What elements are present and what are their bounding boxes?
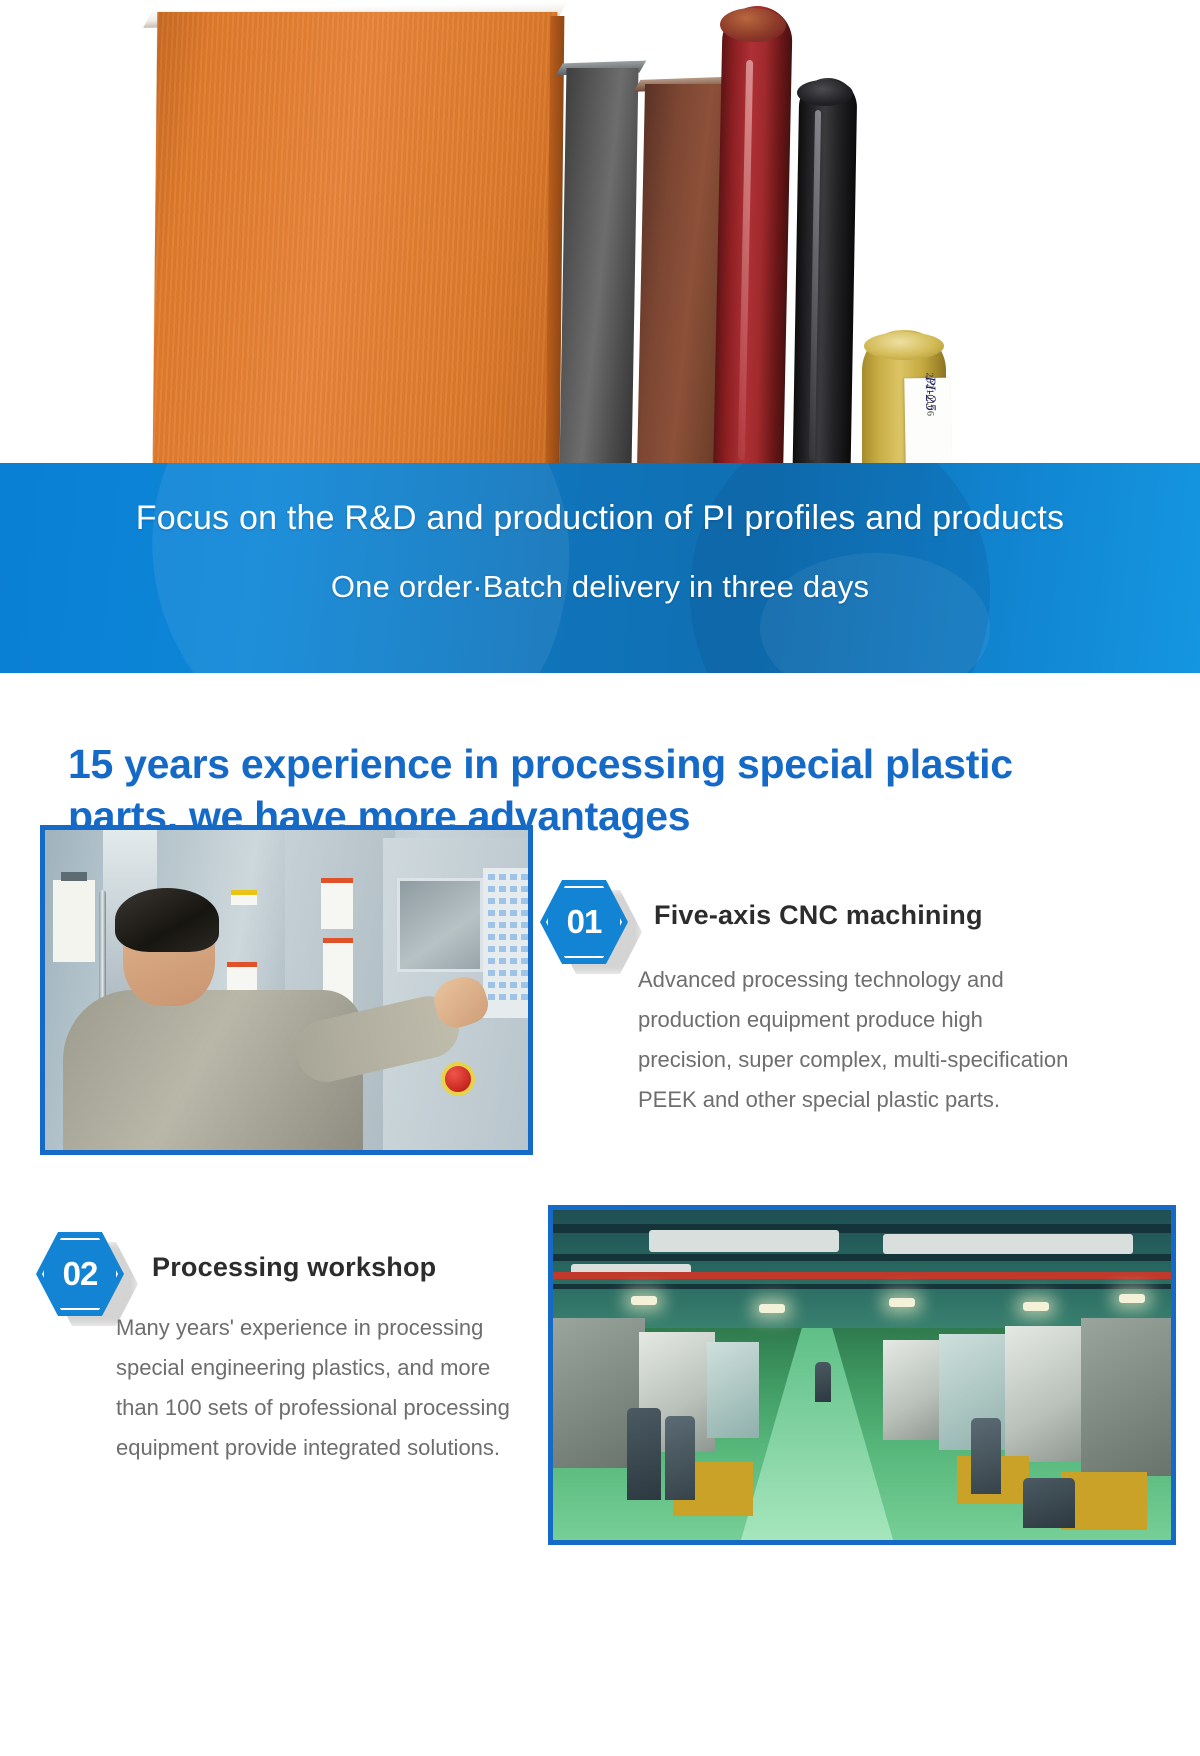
cnc-display-screen <box>397 878 483 972</box>
worker-2 <box>665 1416 695 1500</box>
ceiling-lamp-1 <box>631 1296 657 1305</box>
banner-decor-shape-1 <box>111 463 609 673</box>
banner-headline-secondary: One order·Batch delivery in three days <box>0 569 1200 605</box>
badge-number-01: 01 <box>540 880 628 964</box>
cnc-warning-label-1 <box>321 878 353 929</box>
hero-product-photo: 20210106 PI-25 <box>0 0 1200 470</box>
worker-1 <box>627 1408 661 1500</box>
cnc-machining-photo <box>40 825 533 1155</box>
cnc-clipboard <box>53 880 95 962</box>
worker-5 <box>1023 1478 1075 1528</box>
black-rod <box>793 78 858 470</box>
cnc-keypad <box>483 868 531 1018</box>
feature-title-02: Processing workshop <box>152 1252 532 1283</box>
ceiling-beam-3 <box>553 1284 1171 1289</box>
feature-title-01: Five-axis CNC machining <box>654 900 1074 931</box>
orange-phenolic-sheet <box>153 12 558 470</box>
gold-pi-rod-cap <box>864 332 944 360</box>
workshop-photo <box>548 1205 1176 1545</box>
feature-badge-01: 01 <box>540 880 628 964</box>
emergency-stop-button <box>441 1062 475 1096</box>
worker-4 <box>971 1418 1001 1494</box>
rod-label-signature: PI-25 <box>922 376 938 422</box>
ceiling-duct-1 <box>649 1230 839 1252</box>
tagline-banner: Focus on the R&D and production of PI pr… <box>0 463 1200 673</box>
hero-photo-scene: 20210106 PI-25 <box>0 0 1200 470</box>
cnc-warning-label-2 <box>231 890 257 905</box>
ceiling-duct-2 <box>883 1234 1133 1254</box>
cnc-machine-right-4 <box>1081 1318 1171 1476</box>
feature-body-02: Many years' experience in processing spe… <box>116 1308 522 1468</box>
cnc-machine-left-3 <box>707 1342 759 1438</box>
operator-hair <box>115 888 219 952</box>
worker-3 <box>815 1362 831 1402</box>
dark-red-rod <box>713 5 793 470</box>
ceiling-lamp-5 <box>1119 1294 1145 1303</box>
cnc-machine-right-1 <box>883 1340 945 1440</box>
rod-label-sticker: 20210106 PI-25 <box>904 378 951 465</box>
ceiling-pipe-red <box>553 1272 1171 1279</box>
feature-badge-02: 02 <box>36 1232 124 1316</box>
ceiling-beam-2 <box>553 1254 1171 1261</box>
cnc-machine-right-3 <box>1005 1326 1087 1462</box>
badge-number-02: 02 <box>36 1232 124 1316</box>
ceiling-lamp-4 <box>1023 1302 1049 1311</box>
ceiling-beam-1 <box>553 1224 1171 1233</box>
ceiling-lamp-2 <box>759 1304 785 1313</box>
ceiling-lamp-3 <box>889 1298 915 1307</box>
feature-body-01: Advanced processing technology and produ… <box>638 960 1070 1120</box>
banner-headline-primary: Focus on the R&D and production of PI pr… <box>0 499 1200 538</box>
graphite-gray-sheet <box>559 68 638 470</box>
